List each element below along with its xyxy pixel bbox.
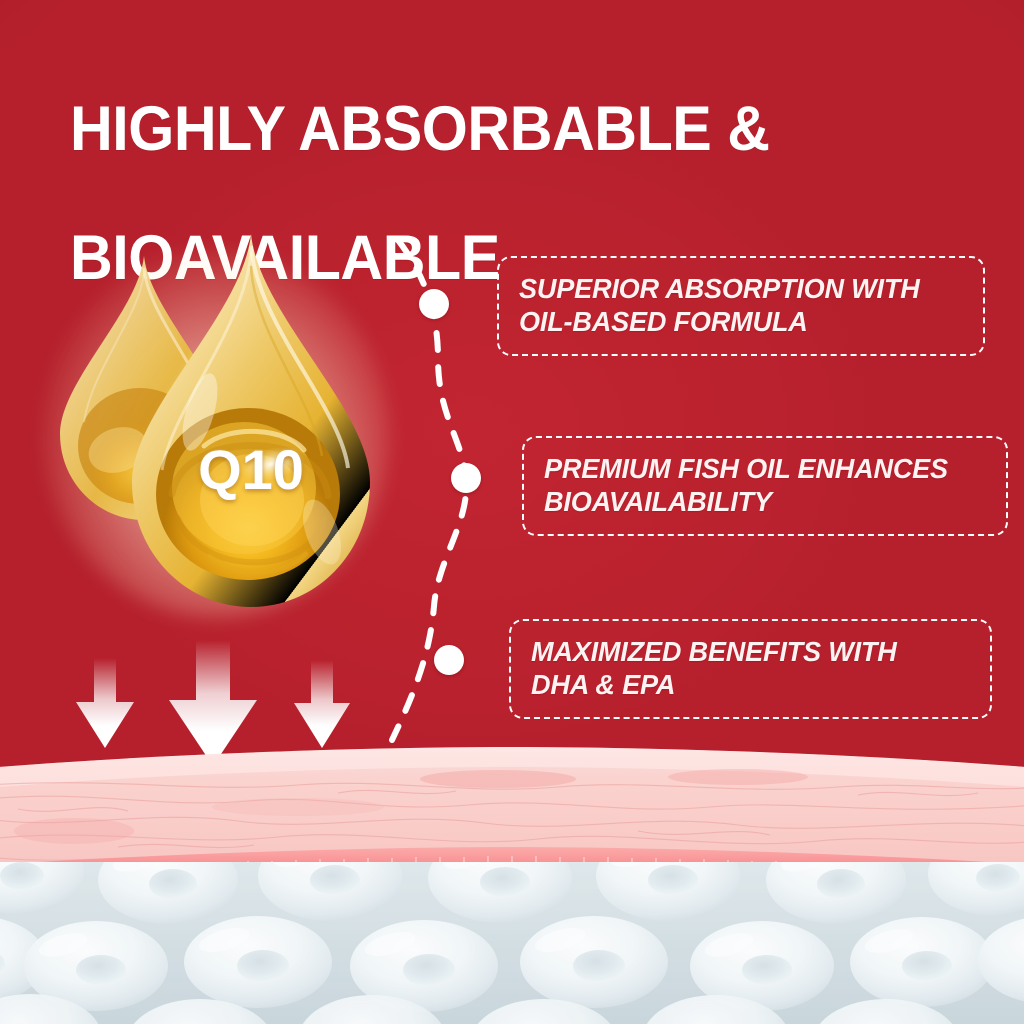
callout-premium-fish-oil[interactable]: PREMIUM FISH OIL ENHANCES BIOAVAILABILIT… bbox=[522, 436, 1008, 536]
connector-node bbox=[434, 645, 464, 675]
callout-text: PREMIUM FISH OIL ENHANCES BIOAVAILABILIT… bbox=[544, 452, 948, 518]
oil-droplet-icon bbox=[126, 232, 376, 610]
infographic-canvas: HIGHLY ABSORBABLE & BIOAVAILABLE bbox=[0, 0, 1024, 1024]
callout-maximized-benefits[interactable]: MAXIMIZED BENEFITS WITH DHA & EPA bbox=[509, 619, 992, 719]
cell-layer-illustration bbox=[0, 862, 1024, 1024]
callout-text: SUPERIOR ABSORPTION WITH OIL-BASED FORMU… bbox=[519, 272, 920, 338]
oil-droplet-group: Q10 bbox=[48, 232, 378, 624]
callout-superior-absorption[interactable]: SUPERIOR ABSORPTION WITH OIL-BASED FORMU… bbox=[497, 256, 985, 356]
connector-node bbox=[451, 463, 481, 493]
connector-node bbox=[419, 289, 449, 319]
headline-line-1: HIGHLY ABSORBABLE & bbox=[70, 97, 944, 161]
absorption-arrows bbox=[56, 640, 396, 750]
callout-text: MAXIMIZED BENEFITS WITH DHA & EPA bbox=[531, 635, 897, 701]
